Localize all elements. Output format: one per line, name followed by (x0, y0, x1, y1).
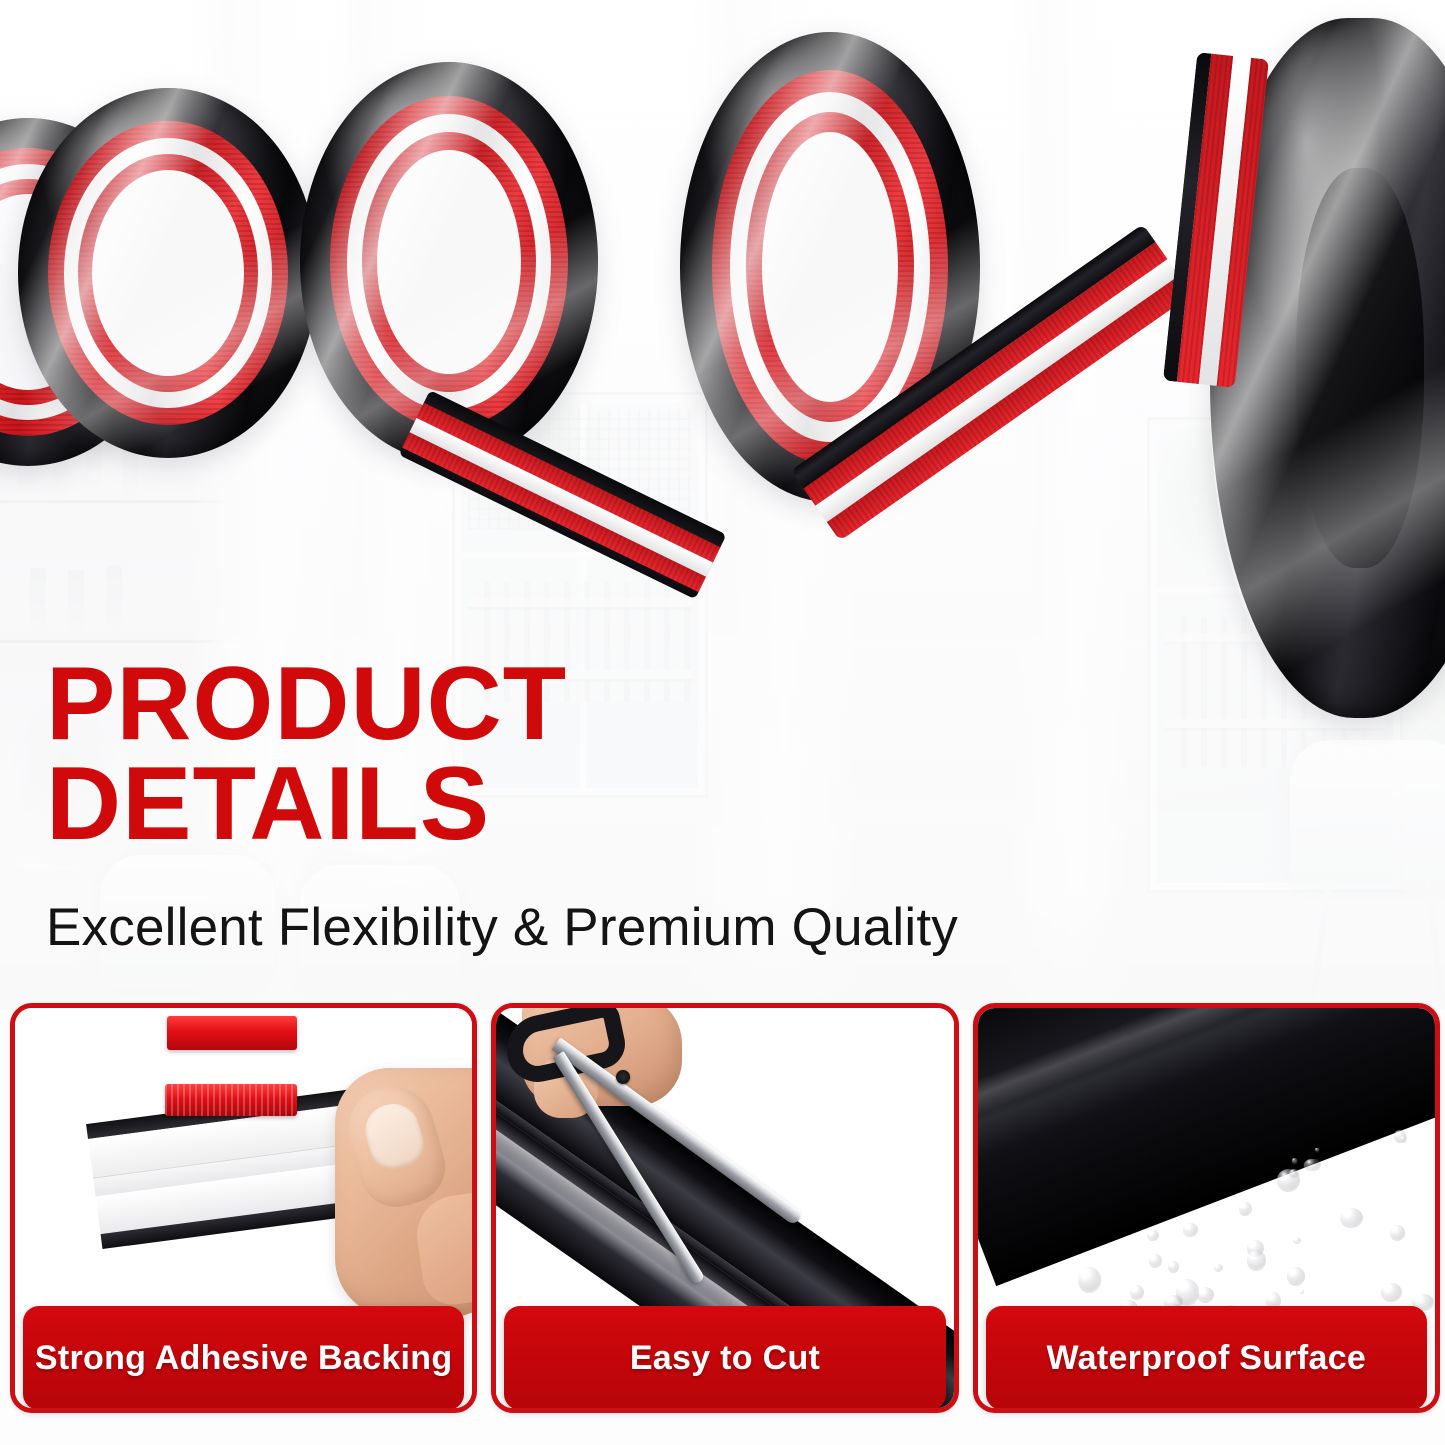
adhesive-strip-upper (167, 1016, 297, 1050)
adhesive-strip-lower (165, 1084, 297, 1116)
feature-panel-row: Strong Adhesive Backing Easy to Cut (10, 1003, 1440, 1413)
feature-card-adhesive[interactable]: Strong Adhesive Backing (10, 1003, 477, 1413)
page-subtitle: Excellent Flexibility & Premium Quality (46, 897, 1146, 958)
water-droplet (1197, 1287, 1214, 1303)
hero-coiled-tape-image (0, 0, 1445, 700)
water-droplet (1239, 1202, 1252, 1216)
product-detail-infographic: PRODUCT DETAILS Excellent Flexibility & … (0, 0, 1445, 1445)
water-droplet (1247, 1250, 1266, 1271)
water-droplet (1293, 1237, 1301, 1244)
page-title-line-1: PRODUCT (46, 646, 567, 762)
water-droplet (1183, 1223, 1198, 1237)
headline-block: PRODUCT DETAILS Excellent Flexibility & … (46, 655, 1146, 958)
feature-caption-adhesive: Strong Adhesive Backing (23, 1306, 464, 1410)
page-title: PRODUCT DETAILS (46, 655, 1146, 855)
feature-caption-easy-to-cut: Easy to Cut (504, 1306, 945, 1410)
page-title-line-2: DETAILS (46, 755, 1146, 855)
water-droplet (1130, 1285, 1144, 1300)
water-droplet (1381, 1283, 1402, 1302)
feature-card-waterproof[interactable]: Waterproof Surface (973, 1003, 1440, 1413)
tape-coil-2 (18, 88, 318, 458)
water-droplet (1304, 1159, 1321, 1172)
feature-caption-waterproof: Waterproof Surface (986, 1306, 1427, 1410)
feature-card-easy-to-cut[interactable]: Easy to Cut (491, 1003, 958, 1413)
